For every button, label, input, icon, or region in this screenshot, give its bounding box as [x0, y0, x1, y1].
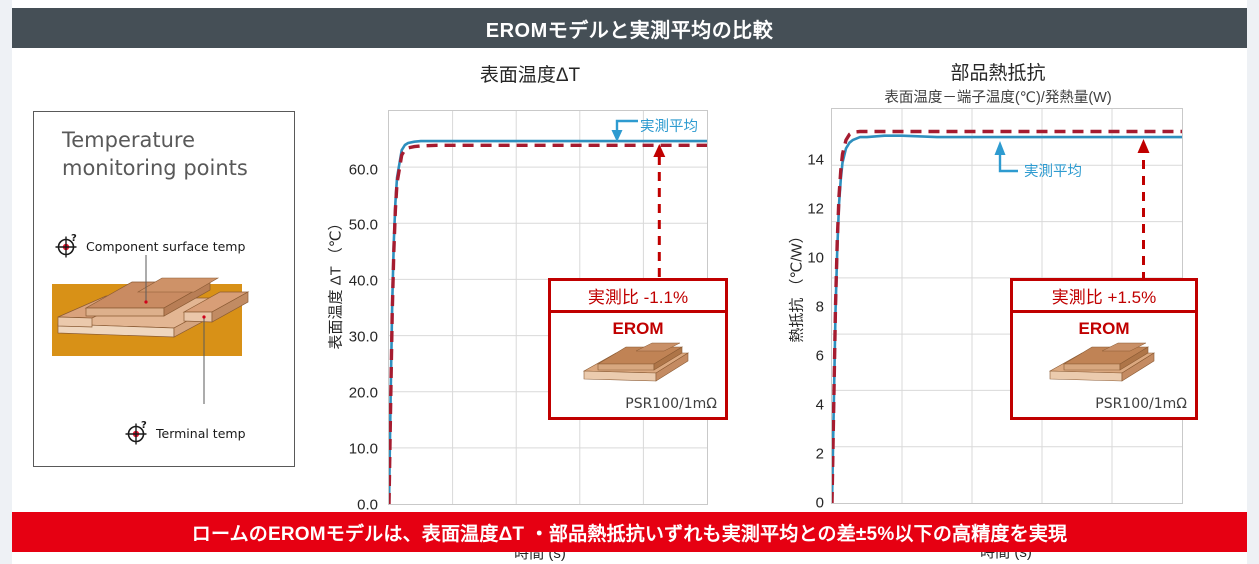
svg-text:?: ? — [141, 420, 147, 431]
temperature-monitoring-panel: Temperature monitoring points — [33, 111, 295, 467]
chart1-ytick-30: 30.0 — [316, 329, 378, 346]
chart1-erom-ratio: 実測比 -1.1% — [551, 281, 725, 313]
header-bar: EROMモデルと実測平均の比較 — [12, 8, 1247, 48]
page-right-margin — [1247, 0, 1259, 564]
chart1-ytick-20: 20.0 — [316, 385, 378, 402]
chart1-erom-name: EROM — [551, 319, 725, 339]
chart2-measured-callout-arrowhead — [995, 141, 1006, 155]
chart2-ytick-4: 4 — [778, 397, 824, 414]
chart1-erom-part-image — [576, 339, 700, 387]
chart2-erom-ratio: 実測比 +1.5% — [1013, 281, 1195, 313]
chart2-ytick-8: 8 — [778, 299, 824, 316]
chart2-erom-part-code: PSR100/1mΩ — [1095, 396, 1187, 412]
chart-thermal-resistance: 部品熱抵抗 表面温度－端子温度(℃)/発熱量(W) 熱抵抗 （℃/W） 14 1… — [778, 60, 1218, 505]
temperature-probe-icon-top: ? — [54, 233, 80, 259]
chart2-measured-average-label: 実測平均 — [1024, 160, 1082, 181]
chart2-ytick-12: 12 — [778, 201, 824, 218]
chart2-ytick-10: 10 — [778, 250, 824, 267]
component-illustration — [34, 112, 296, 468]
chart2-ytick-2: 2 — [778, 446, 824, 463]
chart1-measured-average-label: 実測平均 — [640, 115, 698, 136]
chart2-erom-part-image — [1042, 339, 1166, 387]
chart1-erom-part-code: PSR100/1mΩ — [625, 396, 717, 412]
chart2-erom-name: EROM — [1013, 319, 1195, 339]
chart-surface-temperature: 表面温度ΔT 表面温度 ΔT （℃） 60.0 50.0 40.0 30.0 2… — [320, 60, 740, 505]
chart1-ytick-10: 10.0 — [316, 441, 378, 458]
chart2-title: 部品熱抵抗 — [778, 58, 1218, 85]
slide-root: EROMモデルと実測平均の比較 Temperature monitoring p… — [0, 0, 1259, 564]
page-title: EROMモデルと実測平均の比較 — [486, 14, 774, 43]
temperature-probe-icon-bottom: ? — [124, 420, 150, 446]
chart1-ytick-60: 60.0 — [316, 162, 378, 179]
chart1-ytick-0: 0.0 — [316, 497, 378, 514]
chart2-ytick-0: 0 — [778, 495, 824, 512]
marker-label-terminal-temp: Terminal temp — [156, 426, 246, 441]
footer-message: ロームのEROMモデルは、表面温度ΔT ・部品熱抵抗いずれも実測平均との差±5%… — [192, 519, 1067, 546]
footer-banner: ロームのEROMモデルは、表面温度ΔT ・部品熱抵抗いずれも実測平均との差±5%… — [12, 512, 1247, 552]
chart2-ytick-14: 14 — [778, 152, 824, 169]
chart1-ytick-40: 40.0 — [316, 273, 378, 290]
chart2-y-axis-title: 熱抵抗 （℃/W） — [786, 206, 807, 366]
chart2-subtitle: 表面温度－端子温度(℃)/発熱量(W) — [778, 86, 1218, 107]
chart1-ytick-50: 50.0 — [316, 217, 378, 234]
chart2-measured-callout-arrow — [1000, 153, 1018, 171]
chart1-title: 表面温度ΔT — [320, 60, 740, 87]
marker-label-component-surface-temp: Component surface temp — [86, 239, 245, 254]
page-left-margin — [0, 0, 12, 564]
svg-text:?: ? — [71, 233, 77, 244]
chart2-erom-box: 実測比 +1.5% EROM PSR100/1mΩ — [1010, 278, 1198, 420]
chart1-erom-box: 実測比 -1.1% EROM PSR100/1mΩ — [548, 278, 728, 420]
chart2-ytick-6: 6 — [778, 348, 824, 365]
